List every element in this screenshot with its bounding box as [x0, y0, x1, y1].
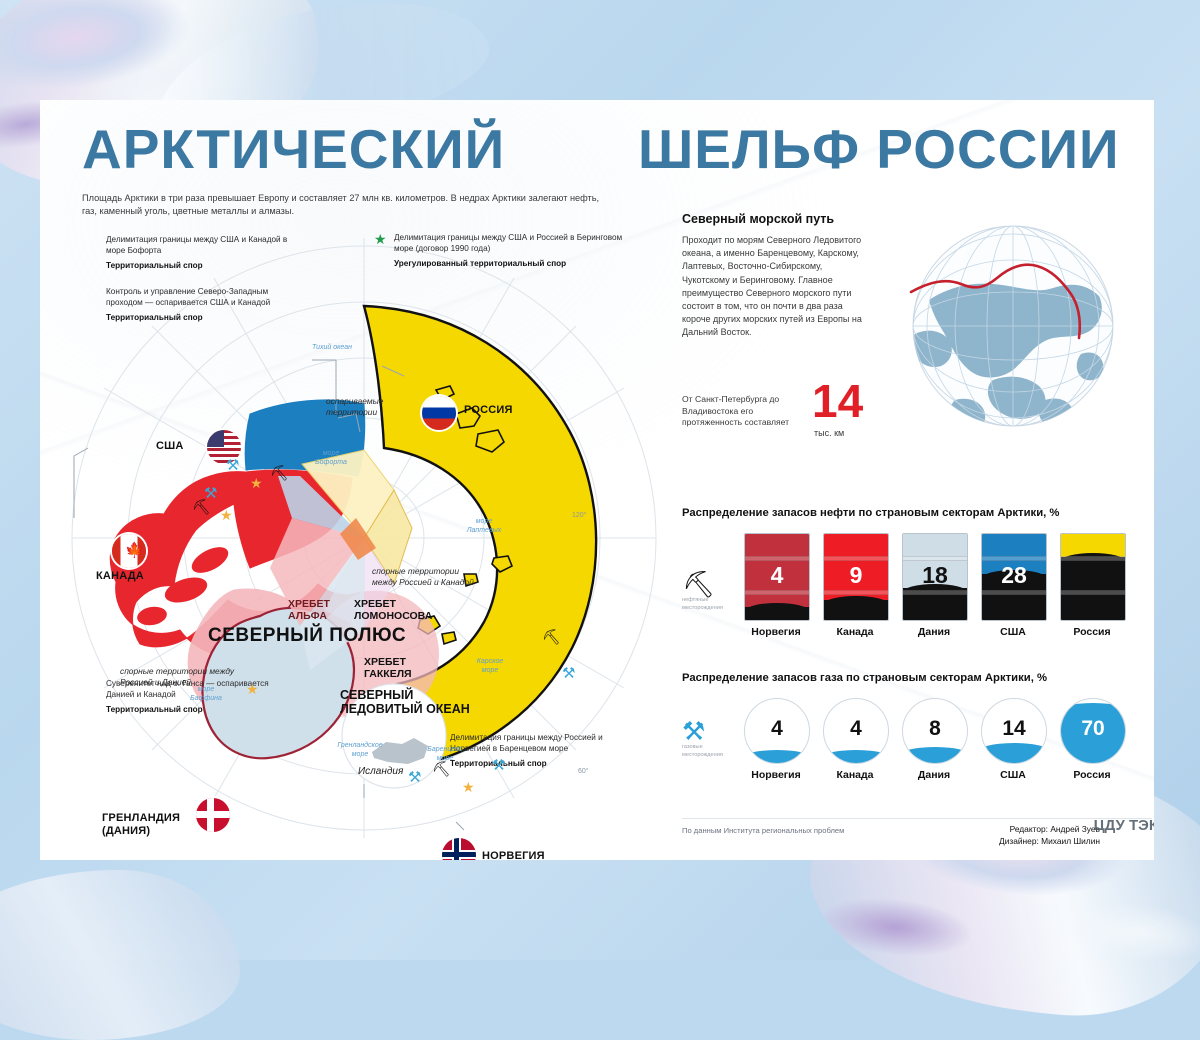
barrel-shape: 4 [744, 533, 810, 621]
norway-flag-icon [442, 838, 476, 860]
sea-label-beaufort: море Бофорта [314, 450, 348, 467]
oil-rig-icon: ⛏ [542, 630, 561, 645]
intro-paragraph: Площадь Арктики в три раза превышает Евр… [82, 192, 602, 218]
barrel-ring [903, 590, 967, 595]
barrel-ring [745, 590, 809, 595]
note-beaufort-sea: Делимитация границы между США и Канадой … [106, 234, 302, 271]
gas-rig-icon: ⚒ [408, 770, 421, 785]
oil-barrel-канада: 9Канада [823, 533, 887, 638]
circle-caption: Канада [823, 769, 887, 781]
oil-rig-icon: ⛏ [192, 500, 211, 515]
circle-value: 4 [824, 717, 888, 741]
disputed-russia-denmark-label: спорные территории между Россией и Дание… [120, 666, 236, 688]
circle-caption: Дания [902, 769, 966, 781]
oil-barrel-норвегия: 4Норвегия [744, 533, 808, 638]
gas-legend-caption: газовые месторождения [682, 744, 734, 759]
country-label-norway: НОРВЕГИЯ [482, 850, 545, 860]
barrel-shape: 18 [902, 533, 968, 621]
stat-label: От Санкт-Петербурга до Владивостока его … [682, 394, 802, 429]
ridge-alpha-label: ХРЕБЕТАЛЬФА [288, 598, 330, 622]
editor-credit: Редактор: Андрей Зуев [999, 824, 1100, 836]
circle-caption: Норвегия [744, 769, 808, 781]
barrel-value: 18 [903, 562, 967, 589]
barrel-ring [745, 556, 809, 561]
country-label-usa: США [156, 440, 184, 453]
arctic-map: Делимитация границы между США и Канадой … [64, 218, 672, 838]
barrel-ring [982, 590, 1046, 595]
coordinate-60: 60° [578, 768, 589, 775]
circle-value: 8 [903, 717, 967, 741]
barrel-value: 28 [982, 562, 1046, 589]
barrel-caption: Россия [1060, 626, 1124, 638]
canada-flag-icon: 🍁 [112, 534, 146, 568]
barrel-caption: Канада [823, 626, 887, 638]
circle-caption: США [981, 769, 1045, 781]
right-column: Северный морской путь Проходит по морям … [682, 212, 1134, 842]
gas-field-star-icon: ★ [462, 780, 475, 794]
oil-barrel-дания: 18Дания [902, 533, 966, 638]
barrel-caption: Дания [902, 626, 966, 638]
iceland-label: Исландия [358, 766, 403, 777]
barrel-shape: 9 [823, 533, 889, 621]
circle-gas-fill [823, 755, 889, 763]
ridge-lomonosov-label: ХРЕБЕТЛОМОНОСОВА [354, 598, 432, 622]
barrel-ring [903, 556, 967, 561]
coordinate-120: 120° [572, 512, 586, 519]
infographic-card: АРКТИЧЕСКИЙ ШЕЛЬФ РОССИИ Площадь Арктики… [40, 100, 1154, 860]
title-part-1: АРКТИЧЕСКИЙ [82, 118, 505, 180]
sea-label-kara: Карское море [470, 658, 510, 675]
oil-barrel-сша: 28США [981, 533, 1045, 638]
oil-rig-icon: ⛏ [270, 466, 289, 481]
stat-value: 14 [812, 378, 863, 424]
country-label-russia: РОССИЯ [464, 404, 513, 417]
barrel-ring [824, 556, 888, 561]
oil-chart-title: Распределение запасов нефти по страновым… [682, 507, 1134, 519]
oil-barrel-россия: 41Россия [1060, 533, 1124, 638]
sea-label-pacific: Тихий океан [312, 344, 352, 353]
circle-caption: Россия [1060, 769, 1124, 781]
circle-value: 70 [1061, 717, 1125, 741]
gas-field-legend: ⚒ газовые месторождения [682, 718, 744, 781]
gas-rig-icon: ⚒ [204, 486, 217, 501]
north-pole-label: СЕВЕРНЫЙ ПОЛЮС [208, 630, 406, 642]
circle-value: 4 [745, 717, 809, 741]
globe-illustration [885, 204, 1140, 459]
gas-circle-group: 4Норвегия4Канада8Дания14США70Россия [744, 698, 1124, 781]
footer: По данным Института региональных проблем… [682, 818, 1152, 826]
oil-chart: Распределение запасов нефти по страновым… [682, 507, 1134, 638]
denmark-flag-icon [196, 798, 230, 832]
title-part-2: ШЕЛЬФ РОССИИ [638, 118, 1120, 180]
gas-rig-icon: ⚒ [682, 718, 744, 744]
disputed-territories-label: оспариваемые территории [326, 396, 412, 418]
sea-label-greenland: Гренландское море [336, 742, 384, 759]
page-title: АРКТИЧЕСКИЙ ШЕЛЬФ РОССИИ [82, 118, 1112, 188]
iridescent-blob-bottomleft [0, 870, 240, 1040]
gas-circle-канада: 4Канада [823, 698, 887, 781]
publisher-logo: ЦДУ ТЭК [1094, 819, 1154, 833]
gas-rig-icon: ⚒ [492, 758, 505, 773]
circle-value: 14 [982, 717, 1046, 741]
barrel-value: 41 [1061, 562, 1125, 589]
gas-field-star-icon: ★ [250, 476, 263, 490]
barrel-value: 4 [745, 562, 809, 589]
circle-shape: 14 [981, 698, 1047, 764]
circle-gas-fill [981, 748, 1047, 763]
russia-flag-icon [422, 396, 456, 430]
note-bering-sea: Делимитация границы между США и Россией … [394, 232, 632, 269]
barrel-ring [1061, 590, 1125, 595]
barrel-shape: 41 [1060, 533, 1126, 621]
circle-shape: 70 [1060, 698, 1126, 764]
oil-field-legend: ⛏ нефтяные месторождения [682, 571, 744, 638]
barrel-caption: Норвегия [744, 626, 808, 638]
gas-rig-icon: ⚒ [226, 458, 239, 473]
gas-chart: Распределение запасов газа по страновым … [682, 672, 1134, 781]
gas-circle-сша: 14США [981, 698, 1045, 781]
barrel-caption: США [981, 626, 1045, 638]
circle-gas-fill [744, 755, 810, 763]
ridge-gakkel-label: ХРЕБЕТГАККЕЛЯ [364, 656, 412, 680]
gas-field-star-icon: ★ [220, 508, 233, 522]
designer-credit: Дизайнер: Михаил Шилин [999, 836, 1100, 848]
gas-chart-title: Распределение запасов газа по страновым … [682, 672, 1134, 684]
circle-shape: 4 [744, 698, 810, 764]
country-label-greenland: ГРЕНЛАНДИЯ (ДАНИЯ) [102, 812, 198, 838]
note-northwest-passage: Контроль и управление Северо-Западным пр… [106, 286, 302, 323]
barrel-ring [824, 590, 888, 595]
staff-credits: Редактор: Андрей Зуев Дизайнер: Михаил Ш… [999, 824, 1100, 847]
oil-rig-icon: ⛏ [682, 571, 744, 597]
gas-circle-норвегия: 4Норвегия [744, 698, 808, 781]
circle-shape: 4 [823, 698, 889, 764]
sea-label-baffin: море Баффина [186, 686, 226, 703]
source-credit: По данным Института региональных проблем [682, 826, 844, 835]
barrel-value: 9 [824, 562, 888, 589]
oil-barrel-group: 4Норвегия9Канада18Дания28США41Россия [744, 533, 1124, 638]
stat-unit: тыс. км [814, 428, 844, 438]
oil-rig-icon: ⛏ [432, 762, 451, 777]
barrel-shape: 28 [981, 533, 1047, 621]
nsr-description: Проходит по морям Северного Ледовитого о… [682, 234, 867, 340]
gas-field-star-icon: ★ [246, 682, 259, 696]
barrel-ring [982, 556, 1046, 561]
barrel-oil-fill [824, 600, 888, 620]
note-barents-sea: Делимитация границы между Россией и Норв… [450, 732, 630, 769]
circle-gas-fill [902, 752, 968, 763]
gas-circle-россия: 70Россия [1060, 698, 1124, 781]
country-label-canada: КАНАДА [96, 570, 144, 583]
gas-circle-дания: 8Дания [902, 698, 966, 781]
green-star-icon: ★ [374, 232, 387, 246]
oil-legend-caption: нефтяные месторождения [682, 597, 734, 612]
arctic-ocean-label: СЕВЕРНЫЙ ЛЕДОВИТЫЙ ОКЕАН [340, 688, 490, 716]
barrel-oil-fill [745, 607, 809, 620]
gas-rig-icon: ⚒ [562, 666, 575, 681]
circle-shape: 8 [902, 698, 968, 764]
barrel-ring [1061, 556, 1125, 561]
disputed-russia-canada-label: спорные территории между Россией и Канад… [372, 566, 476, 588]
sea-label-laptev: море Лаптевых [464, 518, 504, 535]
